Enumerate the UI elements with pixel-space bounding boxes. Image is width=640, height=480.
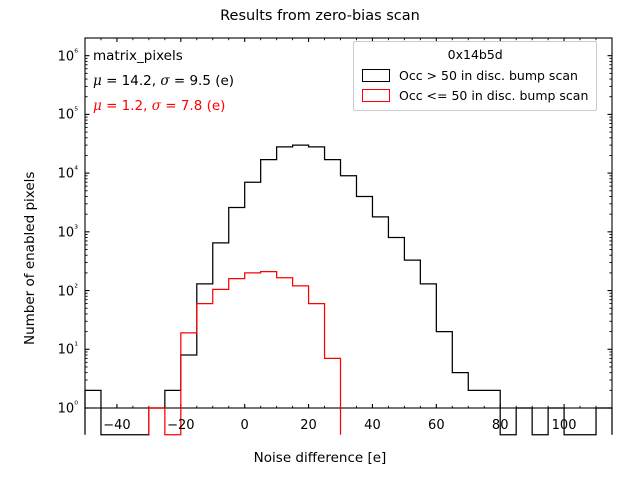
y-tick-label: 10⁵: [34, 106, 78, 123]
x-tick-label: −40: [103, 418, 130, 433]
y-tick-label: 10⁰: [34, 399, 78, 416]
legend-swatch-black: [362, 69, 390, 82]
stats-annotations: matrix_pixels μ = 14.2, σ = 9.5 (e) μ = …: [93, 44, 234, 119]
x-tick-label: −20: [167, 418, 194, 433]
y-tick-label: 10³: [34, 223, 78, 240]
legend-entry-occ-le-50[interactable]: Occ <= 50 in disc. bump scan: [362, 85, 588, 105]
annotation-matrix-pixels: matrix_pixels: [93, 44, 234, 69]
y-tick-label: 10⁴: [34, 164, 78, 181]
annotation-stats-black: μ = 14.2, σ = 9.5 (e): [93, 69, 234, 94]
legend-swatch-red: [362, 89, 390, 102]
histogram-outline: [85, 145, 612, 435]
legend-label-black: Occ > 50 in disc. bump scan: [399, 68, 578, 83]
y-tick-label: 10²: [34, 282, 78, 299]
y-tick-label: 10⁶: [34, 47, 78, 64]
x-tick-label: 0: [241, 418, 249, 433]
x-tick-label: 60: [428, 418, 445, 433]
histogram-outline: [149, 272, 341, 435]
legend-label-red: Occ <= 50 in disc. bump scan: [399, 88, 588, 103]
histogram-series: [85, 145, 612, 435]
figure-canvas: Results from zero-bias scan Number of en…: [0, 0, 640, 480]
legend-title: 0x14b5d: [362, 47, 588, 62]
x-tick-label: 80: [492, 418, 509, 433]
x-tick-label: 40: [364, 418, 381, 433]
annotation-stats-red: μ = 1.2, σ = 7.8 (e): [93, 94, 234, 119]
legend-box[interactable]: 0x14b5d Occ > 50 in disc. bump scan Occ …: [353, 41, 597, 111]
x-tick-label: 20: [300, 418, 317, 433]
y-tick-label: 10¹: [34, 341, 78, 358]
legend-entry-occ-gt-50[interactable]: Occ > 50 in disc. bump scan: [362, 65, 588, 85]
x-tick-label: 100: [552, 418, 577, 433]
